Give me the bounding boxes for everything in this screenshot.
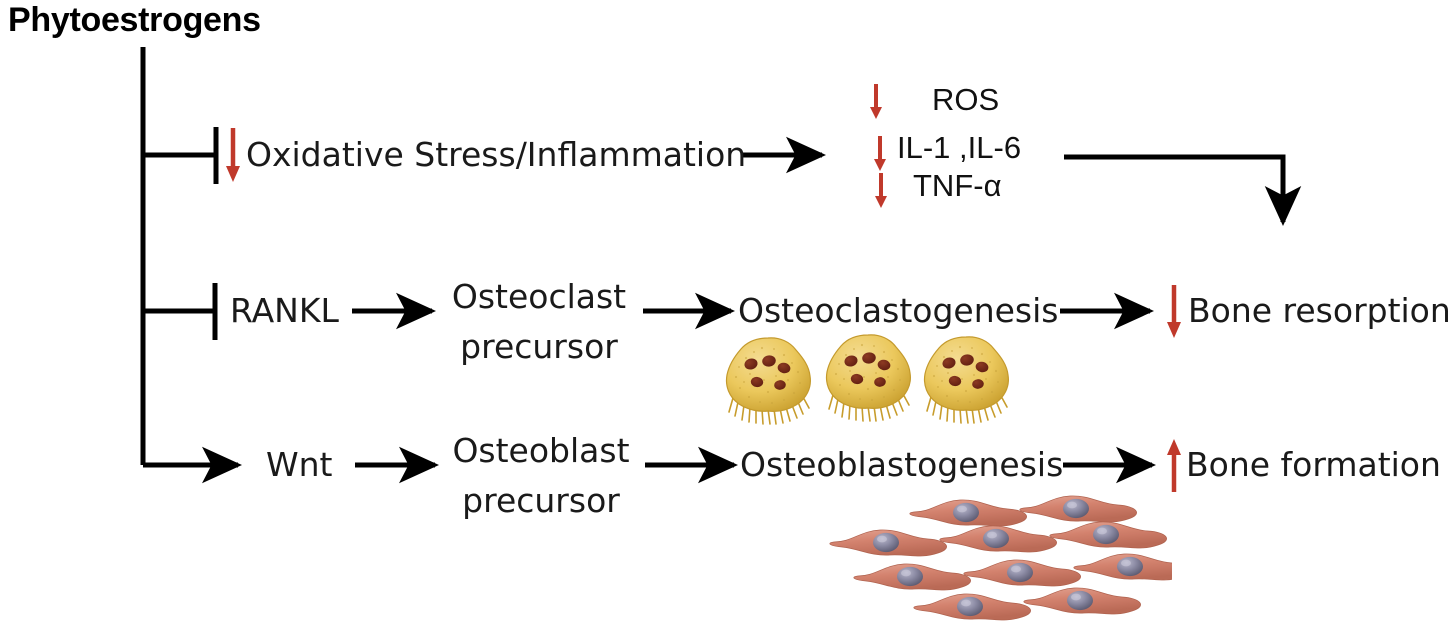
label-osteoclast-precursor-line2: precursor bbox=[450, 322, 628, 372]
osteoclast-cell bbox=[925, 337, 1009, 423]
branch-line-oxidative-stress bbox=[143, 127, 216, 184]
label-tnf-alpha: TNF-α bbox=[913, 169, 1002, 203]
arrow-cytokines-to-resorption bbox=[1064, 157, 1283, 222]
osteoblast-row-middle-front bbox=[854, 554, 1172, 590]
page-title: Phytoestrogens bbox=[8, 0, 261, 40]
label-interleukins: IL-1 ,IL-6 bbox=[897, 131, 1021, 165]
label-osteoclastogenesis: Osteoclastogenesis bbox=[738, 288, 1058, 334]
down-arrow-icon-il bbox=[870, 135, 892, 173]
label-rankl: RANKL bbox=[230, 288, 339, 334]
osteoblast-cells-illustration bbox=[828, 494, 1172, 622]
osteoblast-row-back bbox=[910, 496, 1137, 526]
label-wnt: Wnt bbox=[266, 442, 332, 488]
osteoblast-row-front bbox=[914, 588, 1141, 620]
label-bone-formation: Bone formation bbox=[1186, 442, 1441, 488]
label-osteoclast-precursor-line1: Osteoclast bbox=[450, 272, 628, 322]
up-arrow-icon-bone-formation bbox=[1163, 437, 1185, 494]
down-arrow-icon-oxidative-stress bbox=[222, 126, 244, 184]
down-arrow-icon-bone-resorption bbox=[1163, 283, 1185, 340]
label-osteoblast-precursor: Osteoblast precursor bbox=[452, 426, 630, 526]
label-osteoblast-precursor-line1: Osteoblast bbox=[452, 426, 630, 476]
down-arrow-icon-tnf bbox=[871, 172, 893, 210]
diagram-canvas: Phytoestrogens bbox=[0, 0, 1450, 623]
osteoblast-row-middle-back bbox=[830, 522, 1167, 556]
label-oxidative-stress: Oxidative Stress/Inflammation bbox=[246, 132, 746, 178]
label-bone-resorption: Bone resorption bbox=[1188, 288, 1450, 334]
branch-line-rankl bbox=[143, 283, 215, 340]
osteoclast-cell bbox=[727, 338, 811, 424]
down-arrow-icon-ros bbox=[866, 83, 888, 121]
osteoclast-cell bbox=[827, 335, 911, 421]
label-osteoblast-precursor-line2: precursor bbox=[452, 476, 630, 526]
label-ros: ROS bbox=[932, 83, 999, 117]
label-osteoclast-precursor: Osteoclast precursor bbox=[450, 272, 628, 372]
label-osteoblastogenesis: Osteoblastogenesis bbox=[740, 442, 1063, 488]
osteoclast-cells-illustration bbox=[724, 332, 1016, 428]
